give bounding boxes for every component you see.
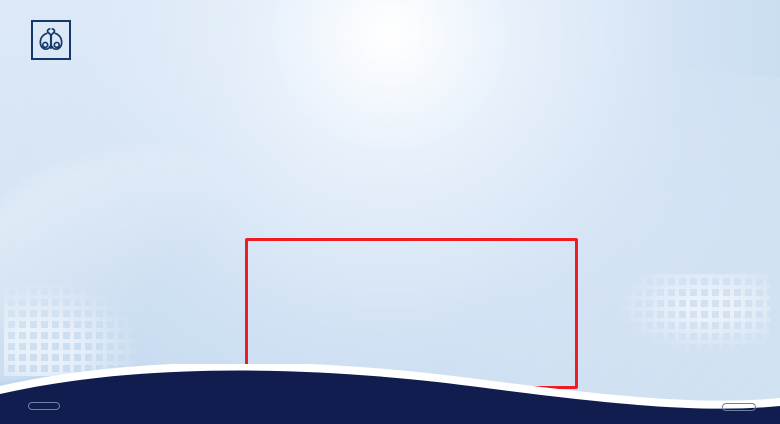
dot-grid-left bbox=[4, 284, 136, 376]
public-relations-pill bbox=[722, 403, 756, 411]
background-sheen-center bbox=[0, 150, 330, 390]
website-url-pill[interactable] bbox=[28, 402, 60, 410]
page-subtitle bbox=[346, 7, 766, 23]
poster-canvas bbox=[0, 0, 780, 424]
two-birds-emblem-icon bbox=[31, 20, 71, 60]
footer-bar bbox=[0, 364, 780, 424]
header-titles bbox=[346, 10, 766, 15]
university-logo bbox=[24, 8, 274, 72]
dot-grid-right bbox=[620, 274, 770, 354]
